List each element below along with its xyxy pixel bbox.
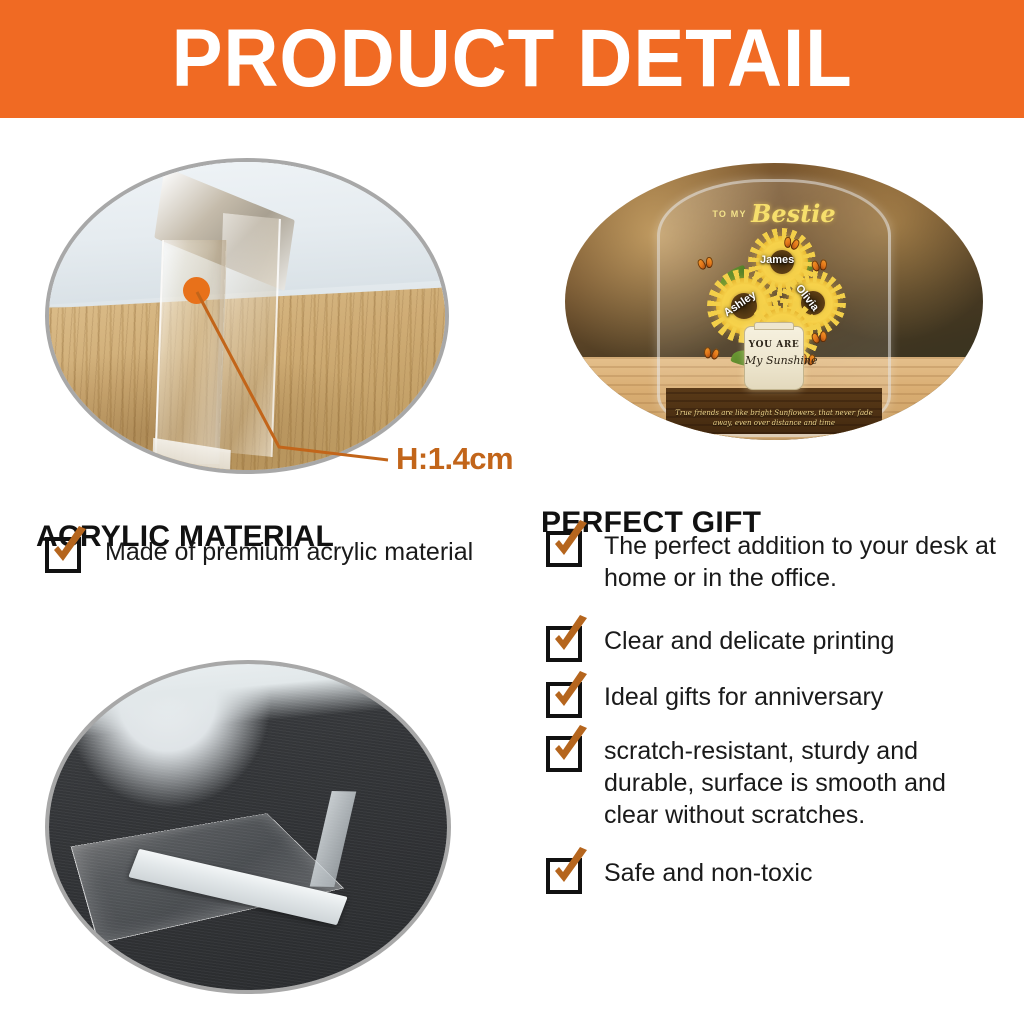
acrylic-block-photo <box>45 660 451 994</box>
list-item-label: The perfect addition to your desk at hom… <box>604 528 1006 594</box>
acrylic-slab <box>154 196 275 464</box>
edge-scene <box>47 160 447 472</box>
list-item-label: scratch-resistant, sturdy and durable, s… <box>604 733 1006 831</box>
sunflower-plaque-photo: TO MY Bestie James Ashley Olivia Micheal… <box>565 163 983 440</box>
jar-text-line-1: YOU ARE <box>745 340 803 350</box>
check-mark-icon <box>547 670 593 716</box>
jar-text-line-2: My Sunshine <box>745 354 803 367</box>
list-item: Made of premium acrylic material <box>45 534 515 573</box>
checkbox-checked-icon <box>546 531 582 567</box>
check-mark-icon <box>547 724 593 770</box>
list-item: The perfect addition to your desk at hom… <box>546 528 1006 594</box>
acrylic-edge-photo <box>45 158 449 474</box>
list-item: scratch-resistant, sturdy and durable, s… <box>546 733 1006 831</box>
list-item-label: Safe and non-toxic <box>604 855 812 889</box>
plaque-heading: TO MY Bestie <box>660 199 888 228</box>
list-item-label: Clear and delicate printing <box>604 623 894 657</box>
plaque-name-james: James <box>760 254 794 266</box>
slab-front-face <box>154 240 227 464</box>
feature-list-perfect-gift: The perfect addition to your desk at hom… <box>546 528 1006 894</box>
list-item-label: Ideal gifts for anniversary <box>604 679 883 713</box>
check-mark-icon <box>547 519 593 565</box>
check-mark-icon <box>547 614 593 660</box>
feature-list-acrylic: Made of premium acrylic material <box>45 534 515 573</box>
page-title: PRODUCT DETAIL <box>172 18 853 100</box>
list-item: Ideal gifts for anniversary <box>546 679 1006 718</box>
slate-surface <box>47 662 449 992</box>
acrylic-plaque-shape: TO MY Bestie James Ashley Olivia Micheal… <box>657 179 891 437</box>
height-dimension-label: H:1.4cm <box>396 441 513 477</box>
list-item: Safe and non-toxic <box>546 855 1006 894</box>
checkbox-checked-icon <box>546 626 582 662</box>
butterfly-icon <box>811 331 828 345</box>
plaque-heading-prefix: TO MY <box>712 209 746 219</box>
list-item-label: Made of premium acrylic material <box>105 534 473 568</box>
butterfly-icon <box>697 256 714 270</box>
checkbox-checked-icon <box>546 682 582 718</box>
acrylic-block <box>99 714 361 914</box>
block-right-face <box>310 791 357 887</box>
header-banner: PRODUCT DETAIL <box>0 0 1024 118</box>
check-mark-icon <box>46 525 92 571</box>
measurement-marker-dot <box>183 277 210 304</box>
check-mark-icon <box>547 846 593 892</box>
list-item: Clear and delicate printing <box>546 623 1006 662</box>
checkbox-checked-icon <box>45 537 81 573</box>
checkbox-checked-icon <box>546 736 582 772</box>
butterfly-icon <box>703 347 720 360</box>
mason-jar: YOU ARE My Sunshine <box>744 326 804 390</box>
plaque-quote: True friends are like bright Sunflowers,… <box>668 408 880 428</box>
butterfly-icon <box>811 259 827 272</box>
checkbox-checked-icon <box>546 858 582 894</box>
plaque-heading-main: Bestie <box>751 199 836 228</box>
